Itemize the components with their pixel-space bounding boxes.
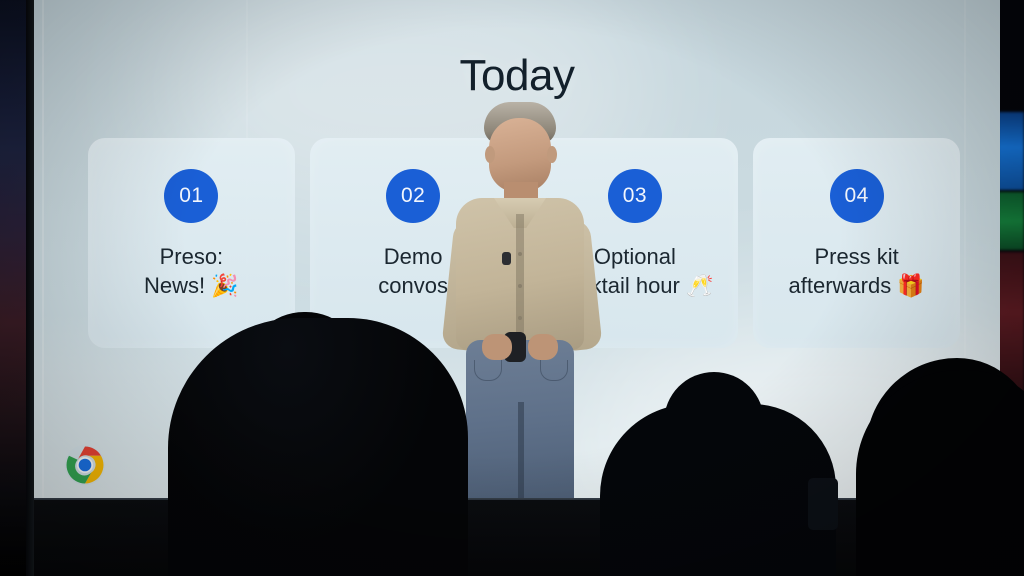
clinking-glasses-icon: 🥂 [686, 274, 713, 299]
party-popper-icon: 🎉 [211, 274, 238, 299]
agenda-card-label: Press kit afterwards [789, 244, 899, 298]
speaker-shirt-placket [516, 214, 524, 346]
step-number-badge: 03 [608, 169, 662, 223]
step-number-badge: 02 [386, 169, 440, 223]
chrome-logo-icon [64, 444, 106, 486]
step-number-badge: 01 [164, 169, 218, 223]
ambient-strip-green [998, 192, 1024, 250]
speaker-ear-right [547, 146, 557, 163]
slide-title: Today [34, 51, 1000, 101]
gift-icon: 🎁 [897, 274, 924, 299]
speaker-face [489, 118, 551, 192]
speaker-shirt-button [518, 252, 522, 256]
audience-silhouette-left [168, 318, 468, 576]
agenda-card-text: Preso: News! 🎉 [88, 242, 295, 302]
stage-scene: Today 01 Preso: News! 🎉 02 Demo convos 0… [0, 0, 1024, 576]
agenda-card-text: Press kit afterwards 🎁 [753, 242, 960, 302]
audience-phone [808, 478, 838, 530]
speaker-jeans-pocket [540, 360, 568, 381]
lapel-microphone-icon [502, 252, 511, 265]
speaker-jeans-pocket [474, 360, 502, 381]
speaker-ear-left [485, 146, 495, 163]
ambient-strip-blue [998, 112, 1024, 190]
speaker-shirt-button [518, 316, 522, 320]
agenda-card-04[interactable]: 04 Press kit afterwards 🎁 [753, 138, 960, 348]
agenda-card-01[interactable]: 01 Preso: News! 🎉 [88, 138, 295, 348]
agenda-card-label: Demo convos [378, 244, 448, 298]
speaker-shirt-button [518, 284, 522, 288]
speaker-hand-left [482, 334, 512, 360]
speaker-leg-separation [518, 402, 524, 512]
audience-silhouette-center [600, 404, 836, 576]
step-number-badge: 04 [830, 169, 884, 223]
speaker-hand-right [528, 334, 558, 360]
